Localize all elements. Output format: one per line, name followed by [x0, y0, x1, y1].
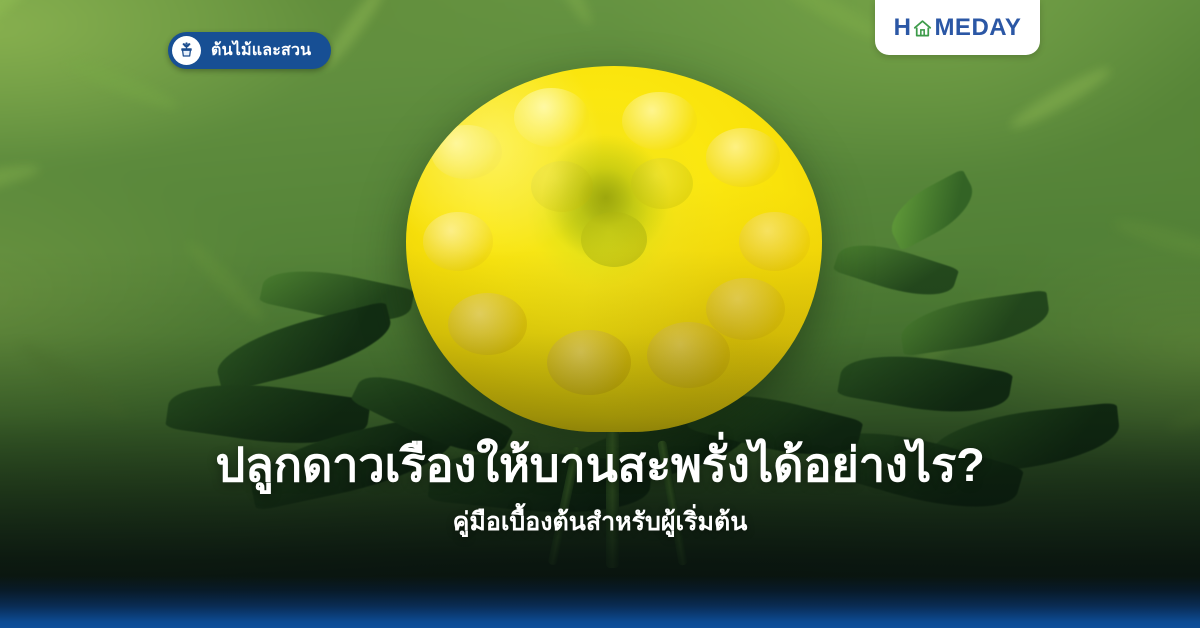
brand-logo-text-before: H	[894, 16, 912, 40]
potted-plant-icon	[172, 36, 201, 65]
category-badge[interactable]: ต้นไม้และสวน	[168, 32, 331, 69]
house-icon	[912, 18, 933, 39]
marigold-flower	[406, 66, 822, 432]
brand-logo-plate[interactable]: H MEDAY	[875, 0, 1040, 55]
category-badge-label: ต้นไม้และสวน	[211, 43, 311, 59]
page-subtitle: คู่มือเบื้องต้นสำหรับผู้เริ่มต้น	[40, 507, 1160, 537]
brand-logo: H MEDAY	[894, 16, 1022, 40]
flower-petals	[406, 66, 822, 432]
hero-banner: ต้นไม้และสวน H MEDAY ปลูกดาวเรืองให้บานส…	[0, 0, 1200, 628]
page-title: ปลูกดาวเรืองให้บานสะพรั่งได้อย่างไร?	[40, 438, 1160, 492]
brand-logo-text-after: MEDAY	[934, 16, 1021, 40]
headline-block: ปลูกดาวเรืองให้บานสะพรั่งได้อย่างไร? คู่…	[0, 438, 1200, 537]
